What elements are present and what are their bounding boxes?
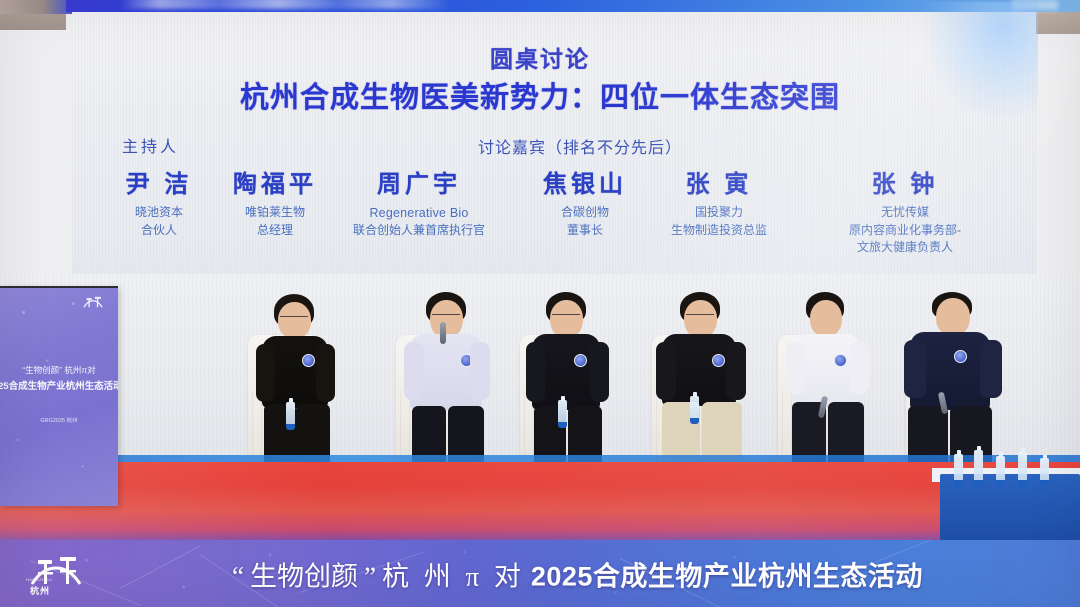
- carpet-sheen: [0, 462, 1080, 540]
- rollup-line-1: “生物创颜” 杭州π对: [4, 364, 114, 376]
- water-bottle: [996, 456, 1005, 486]
- top-banner-ghost-text: [120, 0, 450, 9]
- rollup-line-2: 25合成生物产业杭州生态活动: [0, 378, 118, 392]
- rollup-banner: “生物创颜” 杭州π对 25合成生物产业杭州生态活动 GRG2025 杭州: [0, 286, 118, 506]
- guest-label: 讨论嘉宾（排名不分先后）: [0, 134, 1080, 158]
- water-bottle: [1018, 452, 1027, 486]
- logo-city-label: 杭州: [30, 584, 50, 597]
- event-main-line: 2025合成生物产业杭州生态活动: [531, 554, 923, 593]
- water-bottle: [974, 450, 983, 486]
- speaker-role-line2: 文旅大健康负责人: [800, 239, 1010, 256]
- rollup-network-pattern: [0, 286, 118, 506]
- speaker-name: 张 寅: [634, 172, 804, 197]
- speaker-org: 国投聚力: [634, 204, 804, 221]
- rollup-line-3: GRG2025 杭州: [4, 416, 114, 424]
- speaker-card-4: 张 寅 国投聚力 生物制造投资总监: [634, 172, 804, 239]
- speaker-org: 无忧传媒: [800, 204, 1010, 221]
- screen-title: 圆桌讨论: [0, 40, 1080, 74]
- speaker-card-5: 张 钟 无忧传媒 原内容商业化事务部- 文旅大健康负责人: [800, 172, 1010, 256]
- speaker-name: 周广宇: [324, 172, 514, 197]
- speaker-name: 张 钟: [800, 172, 1010, 197]
- speaker-role: 原内容商业化事务部-: [800, 222, 1010, 239]
- bottom-event-banner: HANGZHOU 杭州 “ 生物创颜 ” 杭 州 π 对 2025合成生物产业杭…: [0, 540, 1080, 607]
- city-line: 杭 州 π 对: [382, 554, 525, 593]
- quote-open: “: [232, 561, 244, 592]
- water-bottle: [954, 454, 963, 486]
- conference-photo-stage: 圆桌讨论 杭州合成生物医美新势力：四位一体生态突围 主持人 讨论嘉宾（排名不分先…: [0, 0, 1080, 607]
- speaker-role: 生物制造投资总监: [634, 222, 804, 239]
- speaker-org: Regenerative Bio: [324, 204, 514, 222]
- quote-close: ”: [364, 561, 376, 592]
- quote-text: 生物创颜: [250, 554, 358, 593]
- hangzhou-logo-icon: [80, 294, 106, 314]
- side-table: [940, 474, 1080, 540]
- logo-subtext: HANGZHOU: [26, 577, 52, 582]
- water-bottle: [1040, 458, 1049, 486]
- speaker-card-2: 周广宇 Regenerative Bio 联合创始人兼首席执行官: [324, 172, 514, 240]
- speaker-list: 尹 洁 晓池资本 合伙人 陶福平 唯铂莱生物 总经理 周广宇 Regenerat…: [72, 172, 1036, 272]
- screen-subtitle: 杭州合成生物医美新势力：四位一体生态突围: [0, 74, 1080, 116]
- speaker-role: 联合创始人兼首席执行官: [324, 222, 514, 239]
- banner-text: “ 生物创颜 ” 杭 州 π 对 2025合成生物产业杭州生态活动: [232, 554, 923, 593]
